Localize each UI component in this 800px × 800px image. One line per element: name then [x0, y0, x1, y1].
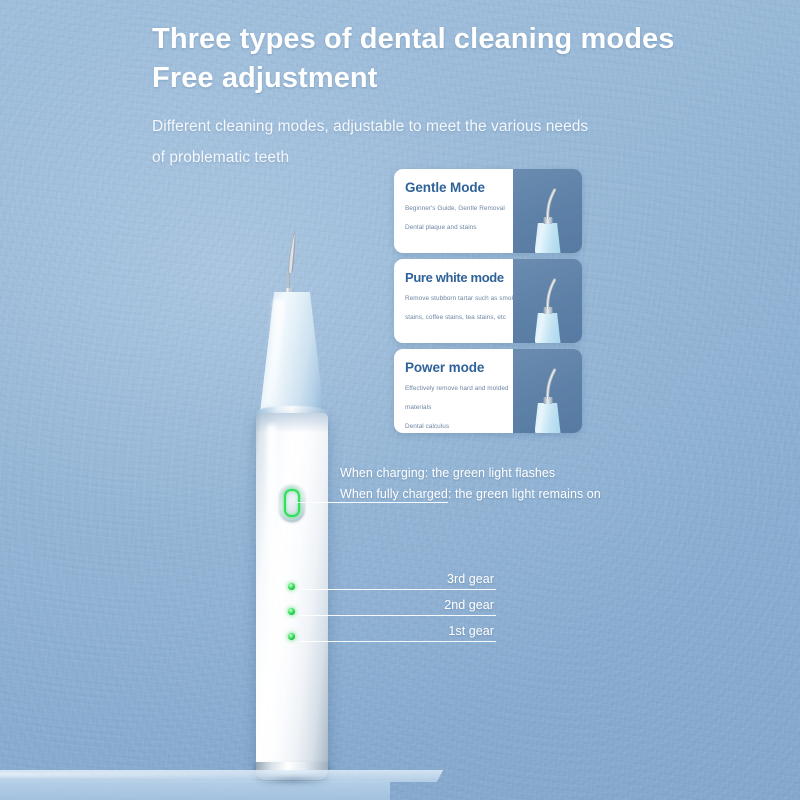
card-desc-line-1: Beginner's Guide, Gentle Removal — [405, 202, 513, 215]
charging-annotation: When charging: the green light flashes W… — [340, 463, 601, 505]
charging-annotation-line-1: When charging: the green light flashes — [340, 463, 601, 484]
mode-card-power[interactable]: Power mode Effectively remove hard and m… — [394, 349, 582, 433]
card-image-panel — [513, 259, 582, 343]
gear-led-1 — [288, 633, 295, 640]
card-desc-line-1: Remove stubborn tartar such as smoke — [405, 292, 513, 305]
card-desc-line-2: materials — [405, 401, 513, 414]
mode-card-gentle[interactable]: Gentle Mode Beginner's Guide, Gentle Rem… — [394, 169, 582, 253]
metal-scaler-tip-icon — [266, 228, 312, 296]
scaler-needle-icon — [536, 187, 558, 219]
card-title: Gentle Mode — [405, 180, 513, 196]
display-pedestal-sheen — [0, 772, 261, 777]
headline-line-1: Three types of dental cleaning modes — [152, 20, 772, 59]
leader-line-gear-1 — [300, 641, 496, 642]
gear-led-2 — [288, 608, 295, 615]
gear-1-label: 1st gear — [424, 624, 494, 638]
card-text-block: Gentle Mode Beginner's Guide, Gentle Rem… — [394, 169, 513, 253]
power-icon — [284, 489, 300, 517]
headline-line-2: Free adjustment — [152, 59, 772, 98]
mode-card-pure-white[interactable]: Pure white mode Remove stubborn tartar s… — [394, 259, 582, 343]
ultrasonic-dental-scaler-device — [248, 228, 358, 788]
scaler-needle-icon — [536, 367, 558, 399]
subheadline-block: Different cleaning modes, adjustable to … — [152, 111, 772, 173]
card-title: Pure white mode — [405, 270, 513, 286]
gear-2-label: 2nd gear — [424, 598, 494, 612]
scaler-nozzle-icon — [535, 223, 561, 253]
leader-line-charging — [296, 502, 448, 503]
card-desc-line-2: Dental plaque and stains — [405, 221, 513, 234]
leader-line-gear-2 — [300, 615, 496, 616]
subheadline-line-1: Different cleaning modes, adjustable to … — [152, 111, 772, 142]
scaler-needle-icon — [536, 277, 558, 309]
card-desc-line-2: stains, coffee stains, tea stains, etc — [405, 311, 513, 324]
leader-line-gear-3 — [300, 589, 496, 590]
card-text-block: Pure white mode Remove stubborn tartar s… — [394, 259, 513, 343]
card-desc-line-1: Effectively remove hard and molded — [405, 382, 513, 395]
card-image-panel — [513, 349, 582, 433]
product-infographic: Three types of dental cleaning modes Fre… — [0, 0, 800, 800]
card-image-panel — [513, 169, 582, 253]
headline-block: Three types of dental cleaning modes Fre… — [152, 20, 772, 173]
device-contact-shadow — [252, 775, 332, 785]
scaler-nozzle-icon — [535, 313, 561, 343]
card-text-block: Power mode Effectively remove hard and m… — [394, 349, 513, 433]
gear-led-3 — [288, 583, 295, 590]
mode-card-list: Gentle Mode Beginner's Guide, Gentle Rem… — [394, 169, 582, 439]
card-desc-line-3: Dental calculus — [405, 420, 513, 433]
device-body-highlight — [267, 424, 276, 754]
gear-3-label: 3rd gear — [424, 572, 494, 586]
scaler-nozzle-icon — [535, 403, 561, 433]
display-pedestal-front — [0, 781, 390, 800]
card-title: Power mode — [405, 360, 513, 376]
